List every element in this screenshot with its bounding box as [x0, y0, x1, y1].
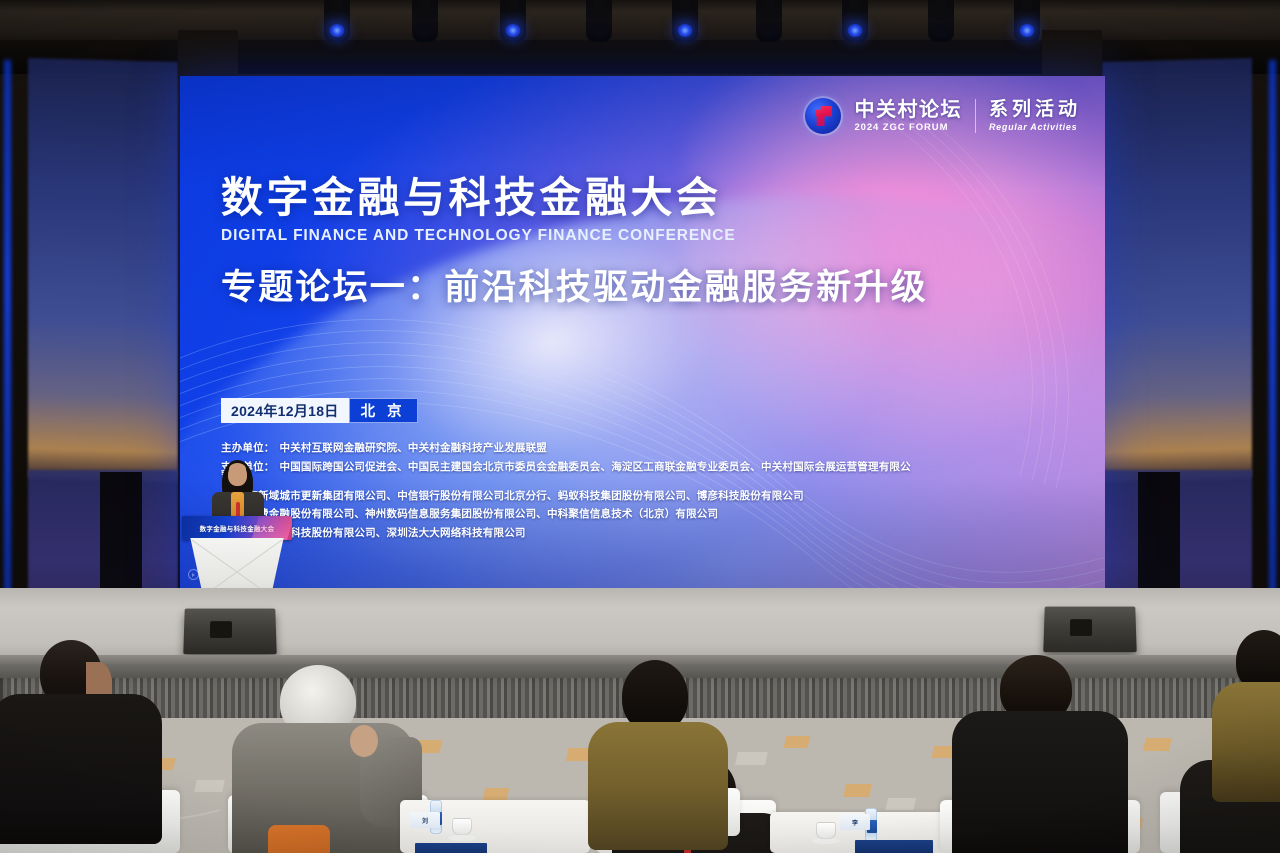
tea-cup-2 — [816, 822, 836, 839]
person-torso — [0, 694, 162, 844]
forum-name-cn: 中关村论坛 — [854, 100, 962, 120]
name-card-2: 李 — [840, 814, 870, 830]
wall-led-strip-left — [4, 60, 11, 620]
tea-cup-1 — [452, 818, 472, 835]
forum-name-en: 2024 ZGC FORUM — [854, 123, 948, 133]
organizer-text: 马上消费金融股份有限公司、神州数码信息服务集团股份有限公司、中科聚信信息技术（北… — [226, 508, 718, 520]
organizer-text: 中国国际跨国公司促进会、中国民主建国会北京市委员会金融委员会、海淀区工商联金融专… — [221, 461, 911, 484]
organizer-line: 主办单位：中关村互联网金融研究院、中关村金融科技产业发展联盟 — [221, 443, 921, 454]
podium-banner-text: 数字金融与科技金融大会 — [200, 523, 275, 533]
wall-panel-left — [28, 58, 178, 482]
stage-light-9 — [1014, 0, 1040, 42]
stage-light-8 — [928, 0, 954, 42]
forum-subtitle-cn: 专题论坛一：前沿科技驱动金融服务新升级 — [221, 259, 928, 310]
name-card-text: 李 — [852, 818, 858, 827]
title-block: 数字金融与科技金融大会 DIGITAL FINANCE AND TECHNOLO… — [221, 176, 928, 310]
organizer-line: 北京海新域城市更新集团有限公司、中信银行股份有限公司北京分行、蚂蚁科技集团股份有… — [221, 491, 921, 502]
series-name-en: Regular Activities — [989, 123, 1077, 132]
speaker-head — [228, 464, 247, 486]
organizer-line: 支持单位：中国国际跨国公司促进会、中国民主建国会北京市委员会金融委员会、海淀区工… — [221, 462, 921, 483]
person-hand — [350, 725, 378, 757]
stage-light-6 — [756, 0, 782, 42]
cup-saucer-1 — [448, 835, 476, 841]
logo-divider — [975, 99, 976, 133]
organizer-text: 中关村互联网金融研究院、中关村金融科技产业发展联盟 — [280, 442, 548, 454]
person-torso — [588, 722, 728, 850]
stage-light-4 — [586, 0, 612, 42]
forum-logo-lockup: 中关村论坛 2024 ZGC FORUM 系列活动 Regular Activi… — [805, 98, 1081, 134]
stage-light-3 — [500, 0, 526, 42]
organizer-text: 北京海新域城市更新集团有限公司、中信银行股份有限公司北京分行、蚂蚁科技集团股份有… — [226, 490, 804, 502]
name-card-text: 刘 — [422, 816, 428, 825]
conference-title-cn: 数字金融与科技金融大会 — [221, 176, 928, 221]
conference-hall-photo: 中关村论坛 2024 ZGC FORUM 系列活动 Regular Activi… — [0, 0, 1280, 853]
stage-monitor-left — [183, 609, 276, 655]
name-card-1: 刘 — [410, 812, 440, 828]
forum-name-block: 中关村论坛 2024 ZGC FORUM — [854, 100, 962, 133]
program-booklet-2 — [855, 840, 933, 853]
wall-led-strip-right — [1269, 60, 1276, 620]
program-booklet-1 — [415, 843, 487, 853]
organizer-list: 主办单位：中关村互联网金融研究院、中关村金融科技产业发展联盟 支持单位：中国国际… — [221, 443, 921, 546]
organizer-line: 上海合合信息科技股份有限公司、深圳法大大网络科技有限公司 — [221, 528, 921, 539]
person-orange-sash — [268, 825, 330, 853]
stage-light-5 — [672, 0, 698, 42]
stage-light-2 — [412, 0, 438, 42]
series-name-block: 系列活动 Regular Activities — [989, 100, 1081, 132]
event-city: 北 京 — [349, 398, 418, 423]
date-location-badge: 2024年12月18日 北 京 — [221, 398, 418, 423]
organizer-label: 主办单位： — [221, 442, 275, 454]
led-presentation-screen: 中关村论坛 2024 ZGC FORUM 系列活动 Regular Activi… — [180, 76, 1105, 590]
person-torso — [952, 711, 1128, 853]
stage-monitor-right — [1043, 607, 1136, 653]
zgc-forum-emblem-icon — [805, 98, 841, 134]
series-name-cn: 系列活动 — [989, 100, 1081, 119]
person-torso — [1212, 682, 1280, 802]
stage-light-1 — [324, 0, 350, 42]
stage-light-7 — [842, 0, 868, 42]
conference-title-en: DIGITAL FINANCE AND TECHNOLOGY FINANCE C… — [221, 227, 928, 245]
wall-panel-right — [1102, 58, 1252, 482]
podium-banner: 数字金融与科技金融大会 — [182, 516, 292, 540]
organizer-line: 马上消费金融股份有限公司、神州数码信息服务集团股份有限公司、中科聚信信息技术（北… — [221, 509, 921, 520]
event-date: 2024年12月18日 — [221, 398, 349, 423]
